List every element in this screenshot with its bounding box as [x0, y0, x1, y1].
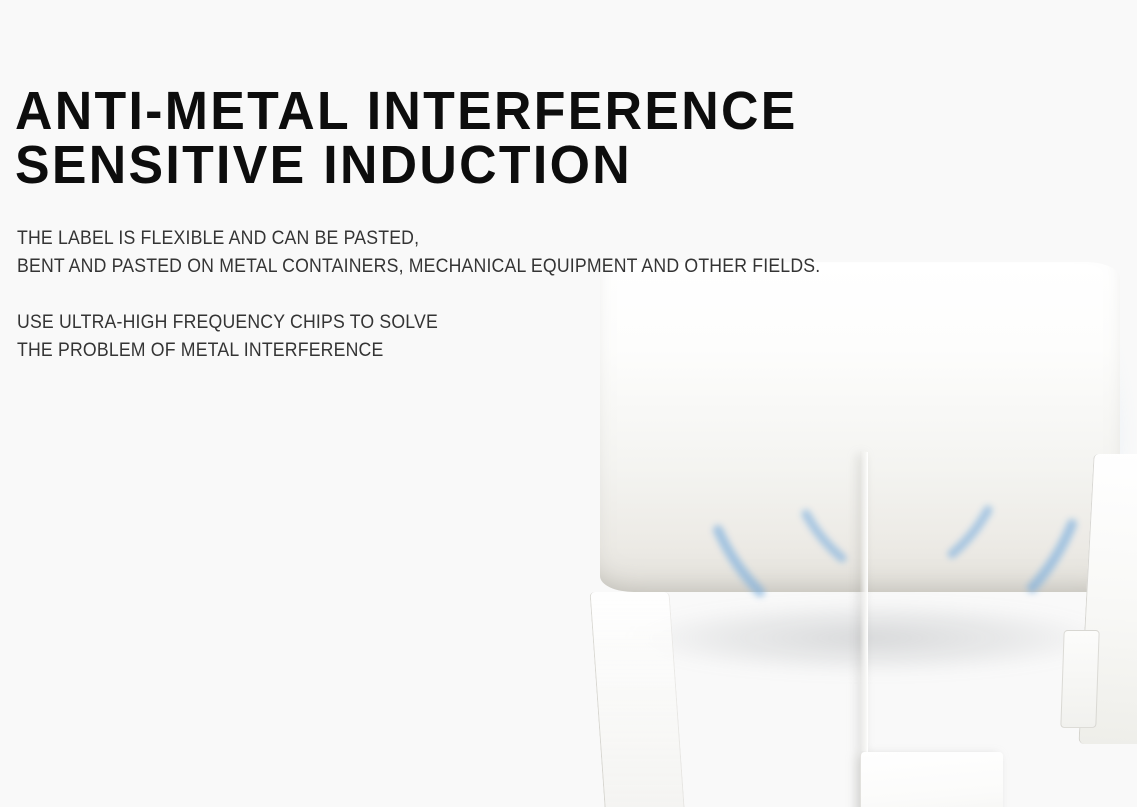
subcopy-paragraph-1: THE LABEL IS FLEXIBLE AND CAN BE PASTED,… — [17, 225, 820, 281]
product-banner: ANTI-METAL INTERFERENCESENSITIVE INDUCTI… — [0, 0, 1137, 807]
headline-block: ANTI-METAL INTERFERENCESENSITIVE INDUCTI… — [15, 84, 830, 192]
peeled-label — [860, 452, 1002, 757]
headline-line-2: SENSITIVE INDUCTION — [15, 138, 798, 192]
subcopy-p1-line-2: BENT AND PASTED ON METAL CONTAINERS, MEC… — [17, 253, 820, 281]
subcopy-p2-line-2: THE PROBLEM OF METAL INTERFERENCE — [17, 337, 820, 365]
peeled-label-edge — [860, 451, 868, 752]
page-title: ANTI-METAL INTERFERENCESENSITIVE INDUCTI… — [15, 84, 798, 192]
roll-facet — [590, 592, 691, 807]
subcopy-block: THE LABEL IS FLEXIBLE AND CAN BE PASTED,… — [17, 225, 820, 365]
roll-right-label-tab — [1060, 630, 1099, 728]
subcopy-p1-line-1: THE LABEL IS FLEXIBLE AND CAN BE PASTED, — [17, 225, 820, 253]
peeled-label-face — [860, 752, 1003, 807]
headline-line-1: ANTI-METAL INTERFERENCE — [15, 81, 798, 141]
subcopy-paragraph-2: USE ULTRA-HIGH FREQUENCY CHIPS TO SOLVE … — [17, 309, 820, 365]
subcopy-p2-line-1: USE ULTRA-HIGH FREQUENCY CHIPS TO SOLVE — [17, 309, 820, 337]
